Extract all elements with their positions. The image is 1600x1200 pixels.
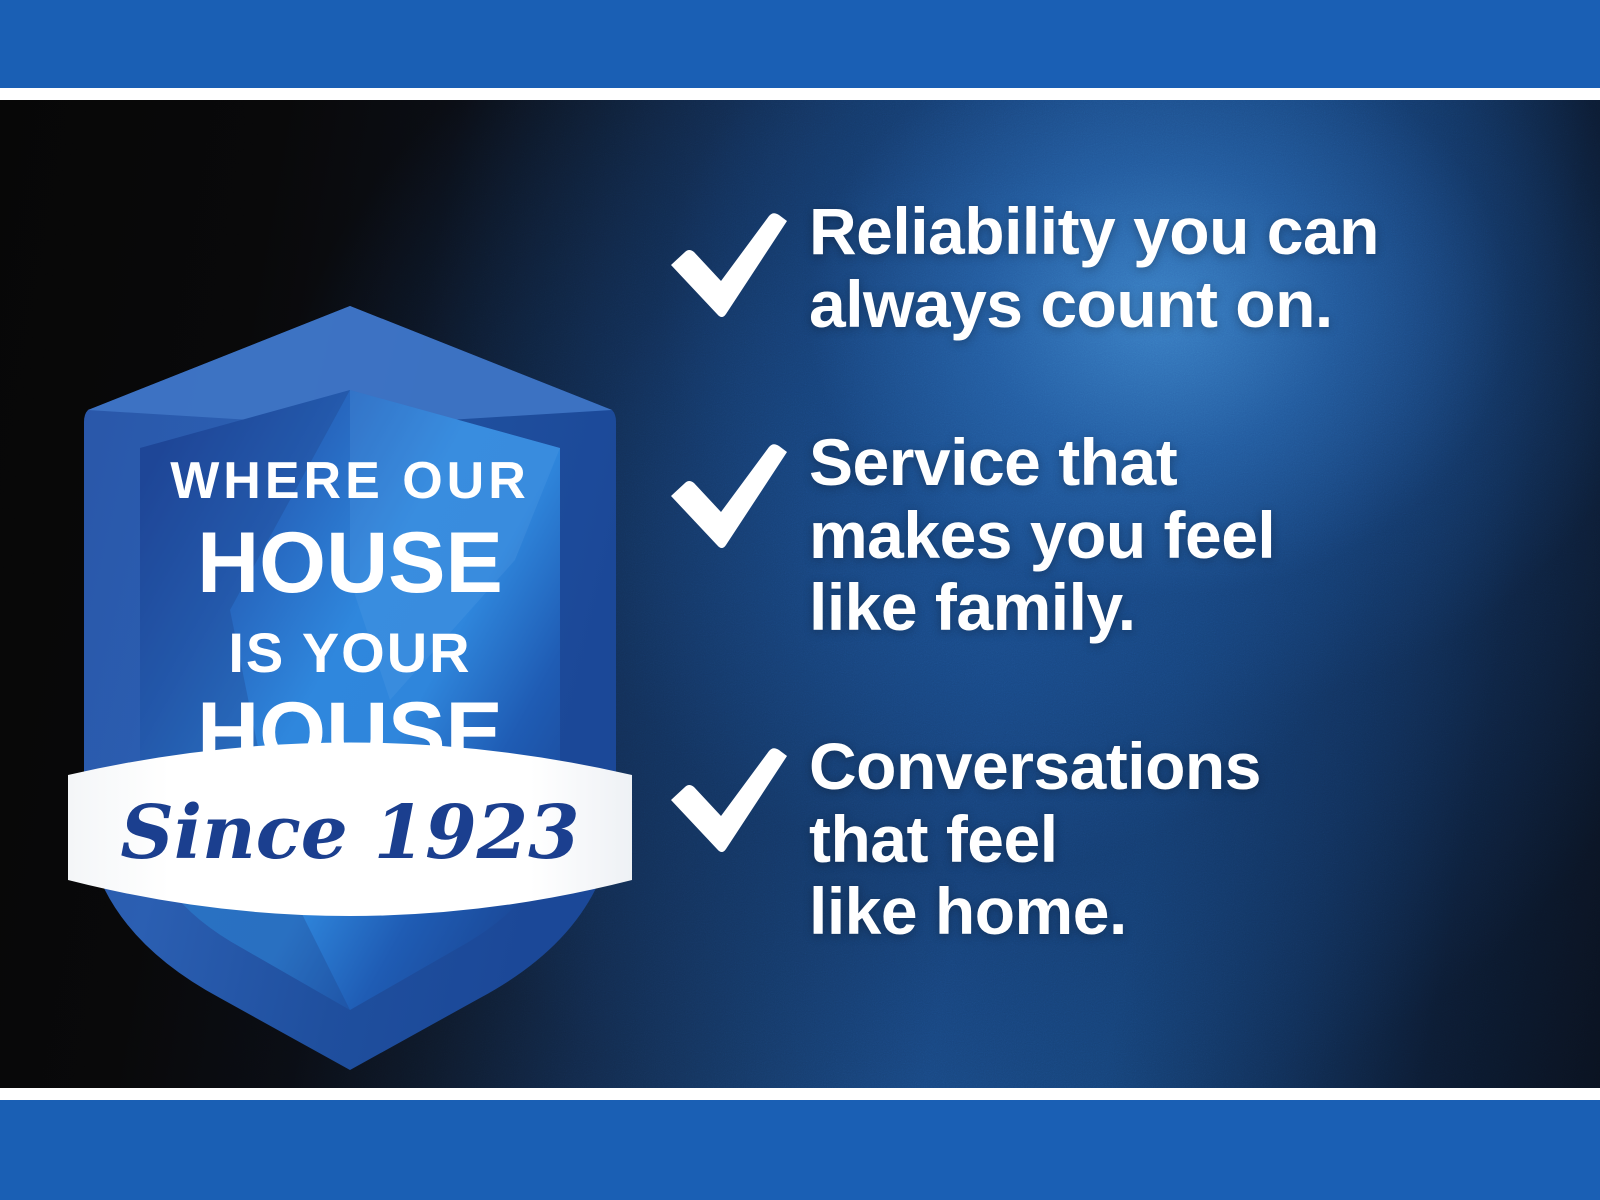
since-banner: Since 1923 xyxy=(68,743,632,917)
bottom-brand-bar xyxy=(0,1100,1600,1200)
benefit-item-reliability: Reliability you can always count on. xyxy=(665,195,1545,340)
promo-graphic: WHERE OUR HOUSE IS YOUR HOUSE Since 1923 xyxy=(0,0,1600,1200)
checkmark-icon xyxy=(665,744,791,862)
shield-line-3: IS YOUR xyxy=(228,621,471,684)
top-white-divider xyxy=(0,88,1600,100)
shield-line-2: HOUSE xyxy=(197,515,503,611)
benefit-text-reliability: Reliability you can always count on. xyxy=(809,195,1379,340)
checkmark-icon xyxy=(665,209,791,327)
benefit-text-conversations: Conversations that feel like home. xyxy=(809,730,1261,948)
benefit-text-service: Service that makes you feel like family. xyxy=(809,426,1275,644)
top-brand-bar xyxy=(0,0,1600,88)
benefit-item-service: Service that makes you feel like family. xyxy=(665,426,1545,644)
main-content-area: WHERE OUR HOUSE IS YOUR HOUSE Since 1923 xyxy=(0,100,1600,1088)
benefits-list: Reliability you can always count on. Ser… xyxy=(665,195,1545,948)
bottom-white-divider xyxy=(0,1088,1600,1100)
since-banner-text: Since 1923 xyxy=(120,790,579,876)
benefit-item-conversations: Conversations that feel like home. xyxy=(665,730,1545,948)
checkmark-icon xyxy=(665,440,791,558)
shield-line-1: WHERE OUR xyxy=(170,452,530,510)
brand-shield-logo: WHERE OUR HOUSE IS YOUR HOUSE Since 1923 xyxy=(60,280,640,1070)
